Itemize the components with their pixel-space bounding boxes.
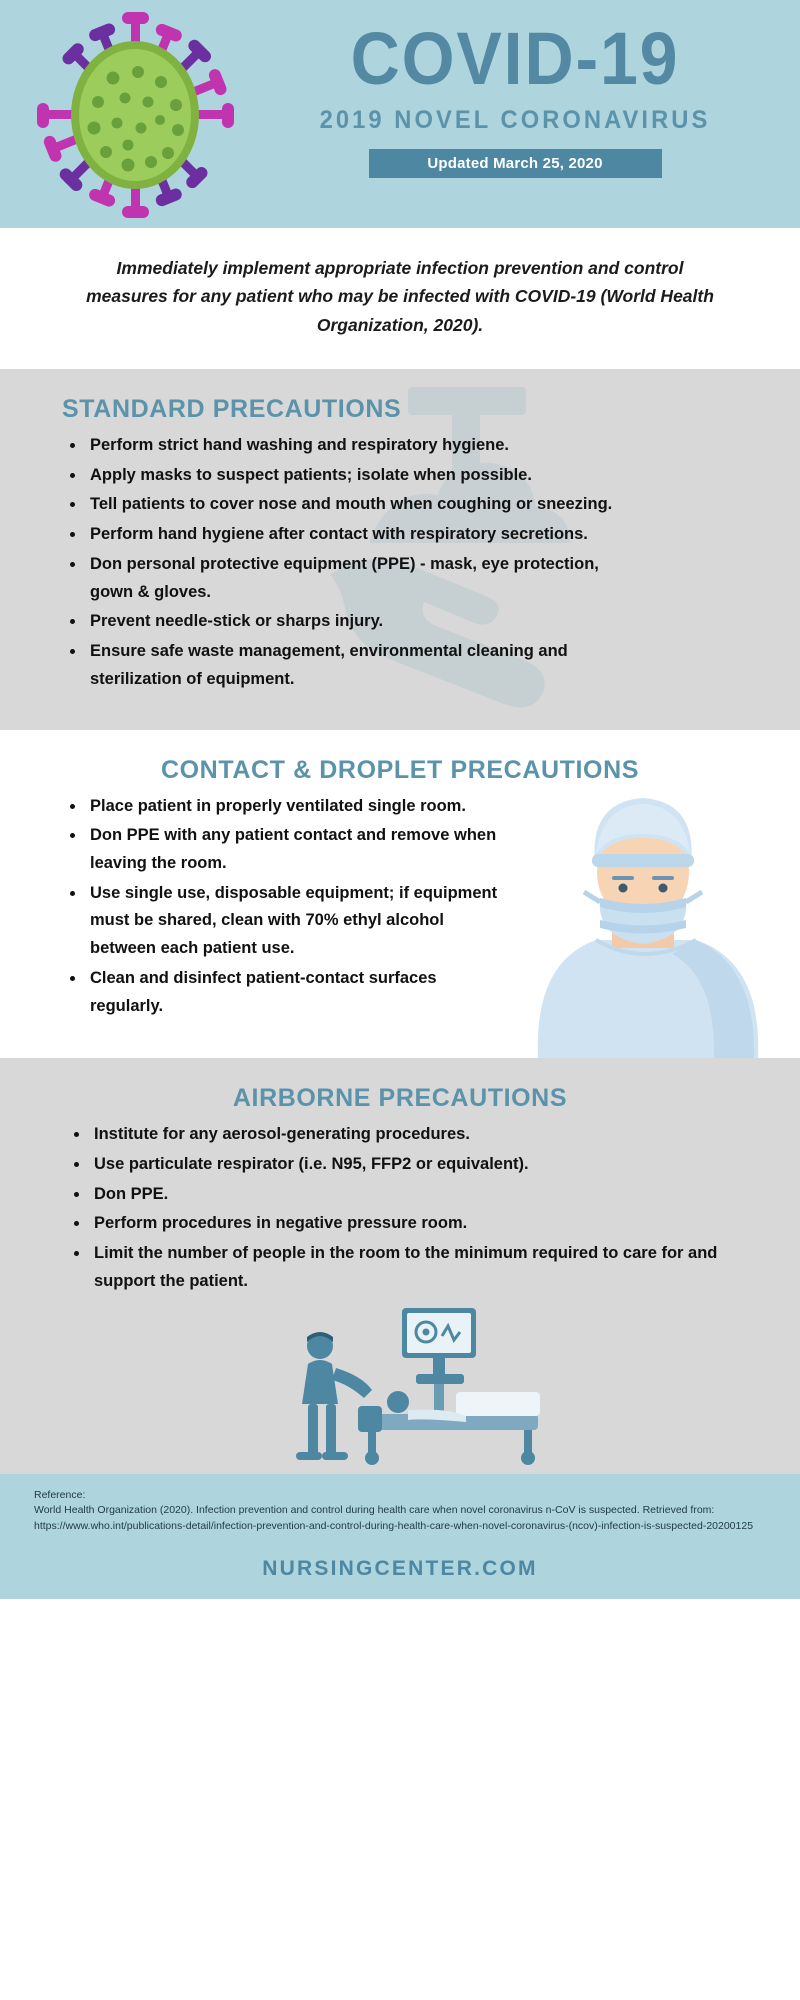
reference-text: World Health Organization (2020). Infect… xyxy=(34,1503,766,1535)
section-heading-standard: STANDARD PRECAUTIONS xyxy=(0,369,800,432)
section-heading-contact: CONTACT & DROPLET PRECAUTIONS xyxy=(0,730,800,793)
reference-label: Reference: xyxy=(34,1488,766,1504)
infographic-page: COVID-19 2019 NOVEL CORONAVIRUS Updated … xyxy=(0,0,800,2000)
list-item: Place patient in properly ventilated sin… xyxy=(68,793,500,821)
section-heading-airborne: AIRBORNE PRECAUTIONS xyxy=(0,1058,800,1121)
coronavirus-icon xyxy=(28,10,243,220)
list-item: Limit the number of people in the room t… xyxy=(72,1240,730,1295)
intro-block: Immediately implement appropriate infect… xyxy=(0,228,800,369)
bullet-list-standard: Perform strict hand washing and respirat… xyxy=(68,432,754,693)
list-item: Use single use, disposable equipment; if… xyxy=(68,880,500,963)
page-title: COVID-19 xyxy=(271,24,759,94)
list-item: Apply masks to suspect patients; isolate… xyxy=(68,462,628,490)
list-item: Tell patients to cover nose and mouth wh… xyxy=(68,491,628,519)
list-item: Don PPE. xyxy=(72,1181,730,1209)
list-item: Don PPE with any patient contact and rem… xyxy=(68,822,500,877)
header-band: COVID-19 2019 NOVEL CORONAVIRUS Updated … xyxy=(0,0,800,228)
updated-date-banner: Updated March 25, 2020 xyxy=(369,149,662,178)
section-contact-droplet-precautions: CONTACT & DROPLET PRECAUTIONS Place pati… xyxy=(0,730,800,1059)
brand-footer[interactable]: NURSINGCENTER.COM xyxy=(0,1543,800,1599)
list-item: Clean and disinfect patient-contact surf… xyxy=(68,965,500,1020)
list-item: Ensure safe waste management, environmen… xyxy=(68,638,628,693)
list-item: Perform strict hand washing and respirat… xyxy=(68,432,628,460)
list-item: Institute for any aerosol-generating pro… xyxy=(72,1121,730,1149)
list-item: Prevent needle-stick or sharps injury. xyxy=(68,608,628,636)
list-item: Perform hand hygiene after contact with … xyxy=(68,521,628,549)
section-standard-precautions: STANDARD PRECAUTIONS Perform strict hand… xyxy=(0,369,800,729)
page-subtitle: 2019 NOVEL CORONAVIRUS xyxy=(263,106,767,135)
list-item: Don personal protective equipment (PPE) … xyxy=(68,551,628,606)
list-item: Use particulate respirator (i.e. N95, FF… xyxy=(72,1151,730,1179)
bullet-list-airborne: Institute for any aerosol-generating pro… xyxy=(72,1121,730,1295)
section-airborne-precautions: AIRBORNE PRECAUTIONS Institute for any a… xyxy=(0,1058,800,1473)
bullet-list-contact: Place patient in properly ventilated sin… xyxy=(68,793,500,1021)
list-item: Perform procedures in negative pressure … xyxy=(72,1210,730,1238)
nurse-ppe-illustration xyxy=(500,768,790,1058)
icu-patient-illustration xyxy=(250,1306,550,1466)
intro-text: Immediately implement appropriate infect… xyxy=(86,254,714,339)
footer-band: Reference: World Health Organization (20… xyxy=(0,1474,800,1543)
header-title-block: COVID-19 2019 NOVEL CORONAVIRUS Updated … xyxy=(250,24,780,178)
